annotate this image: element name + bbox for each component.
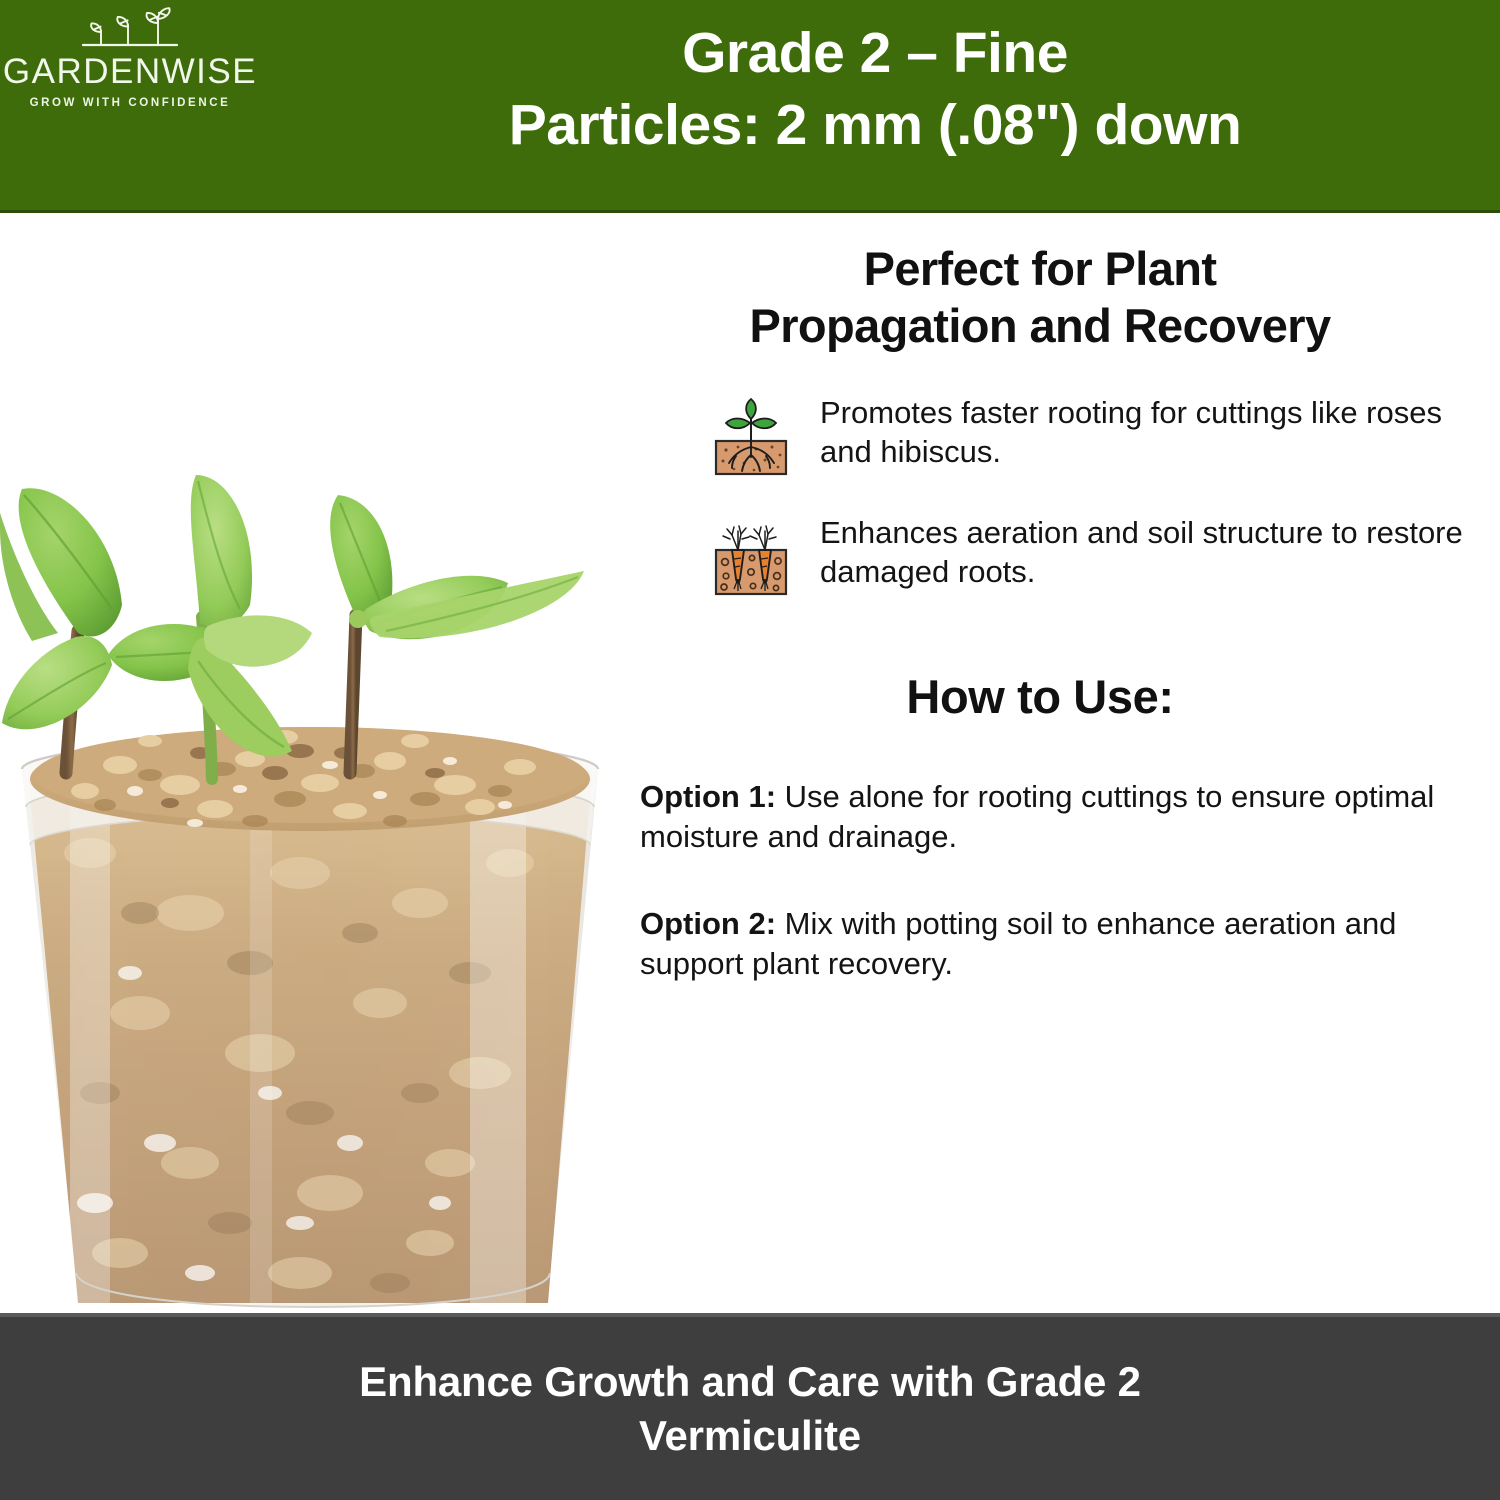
footer-text: Enhance Growth and Care with Grade 2 Ver…: [359, 1355, 1141, 1462]
carrots-in-soil-icon: [710, 517, 792, 599]
benefit-text: Promotes faster rooting for cuttings lik…: [820, 393, 1470, 472]
usage-option: Option 2: Mix with potting soil to enhan…: [640, 904, 1460, 985]
three-sprouts-icon: [70, 6, 190, 52]
benefit-list: Promotes faster rooting for cuttings lik…: [600, 393, 1480, 599]
header-title: Grade 2 – Fine Particles: 2 mm (.08") do…: [270, 18, 1480, 162]
benefit-text: Enhances aeration and soil structure to …: [820, 513, 1470, 592]
seedlings-in-cup-photo: [0, 213, 620, 1313]
footer-bar: Enhance Growth and Care with Grade 2 Ver…: [0, 1313, 1500, 1500]
howto-title: How to Use:: [600, 669, 1480, 725]
product-photo: [0, 213, 620, 1313]
section-title-line2: Propagation and Recovery: [615, 297, 1465, 354]
header-bar: GARDENWISE GROW WITH CONFIDENCE Grade 2 …: [0, 0, 1500, 213]
header-title-line2: Particles: 2 mm (.08") down: [270, 90, 1480, 162]
footer-text-line1: Enhance Growth and Care with Grade 2: [359, 1358, 1141, 1405]
section-title: Perfect for Plant Propagation and Recove…: [600, 240, 1480, 355]
infographic-page: GARDENWISE GROW WITH CONFIDENCE Grade 2 …: [0, 0, 1500, 1500]
benefit-item: Promotes faster rooting for cuttings lik…: [710, 393, 1480, 479]
option-label: Option 2:: [640, 906, 776, 941]
benefit-item: Enhances aeration and soil structure to …: [710, 513, 1480, 599]
content-column: Perfect for Plant Propagation and Recove…: [600, 240, 1480, 1030]
seedling-with-roots-in-soil-icon: [710, 397, 792, 479]
logo-wordmark: GARDENWISE: [3, 54, 257, 89]
usage-option: Option 1: Use alone for rooting cuttings…: [640, 777, 1460, 858]
footer-text-line2: Vermiculite: [359, 1409, 1141, 1462]
vermiculite-surface: [30, 727, 590, 831]
usage-options: Option 1: Use alone for rooting cuttings…: [600, 777, 1480, 984]
logo-tagline: GROW WITH CONFIDENCE: [30, 98, 231, 110]
option-label: Option 1:: [640, 779, 776, 814]
header-title-line1: Grade 2 – Fine: [682, 21, 1068, 85]
brand-logo: GARDENWISE GROW WITH CONFIDENCE: [14, 6, 246, 112]
section-title-line1: Perfect for Plant: [864, 242, 1217, 295]
